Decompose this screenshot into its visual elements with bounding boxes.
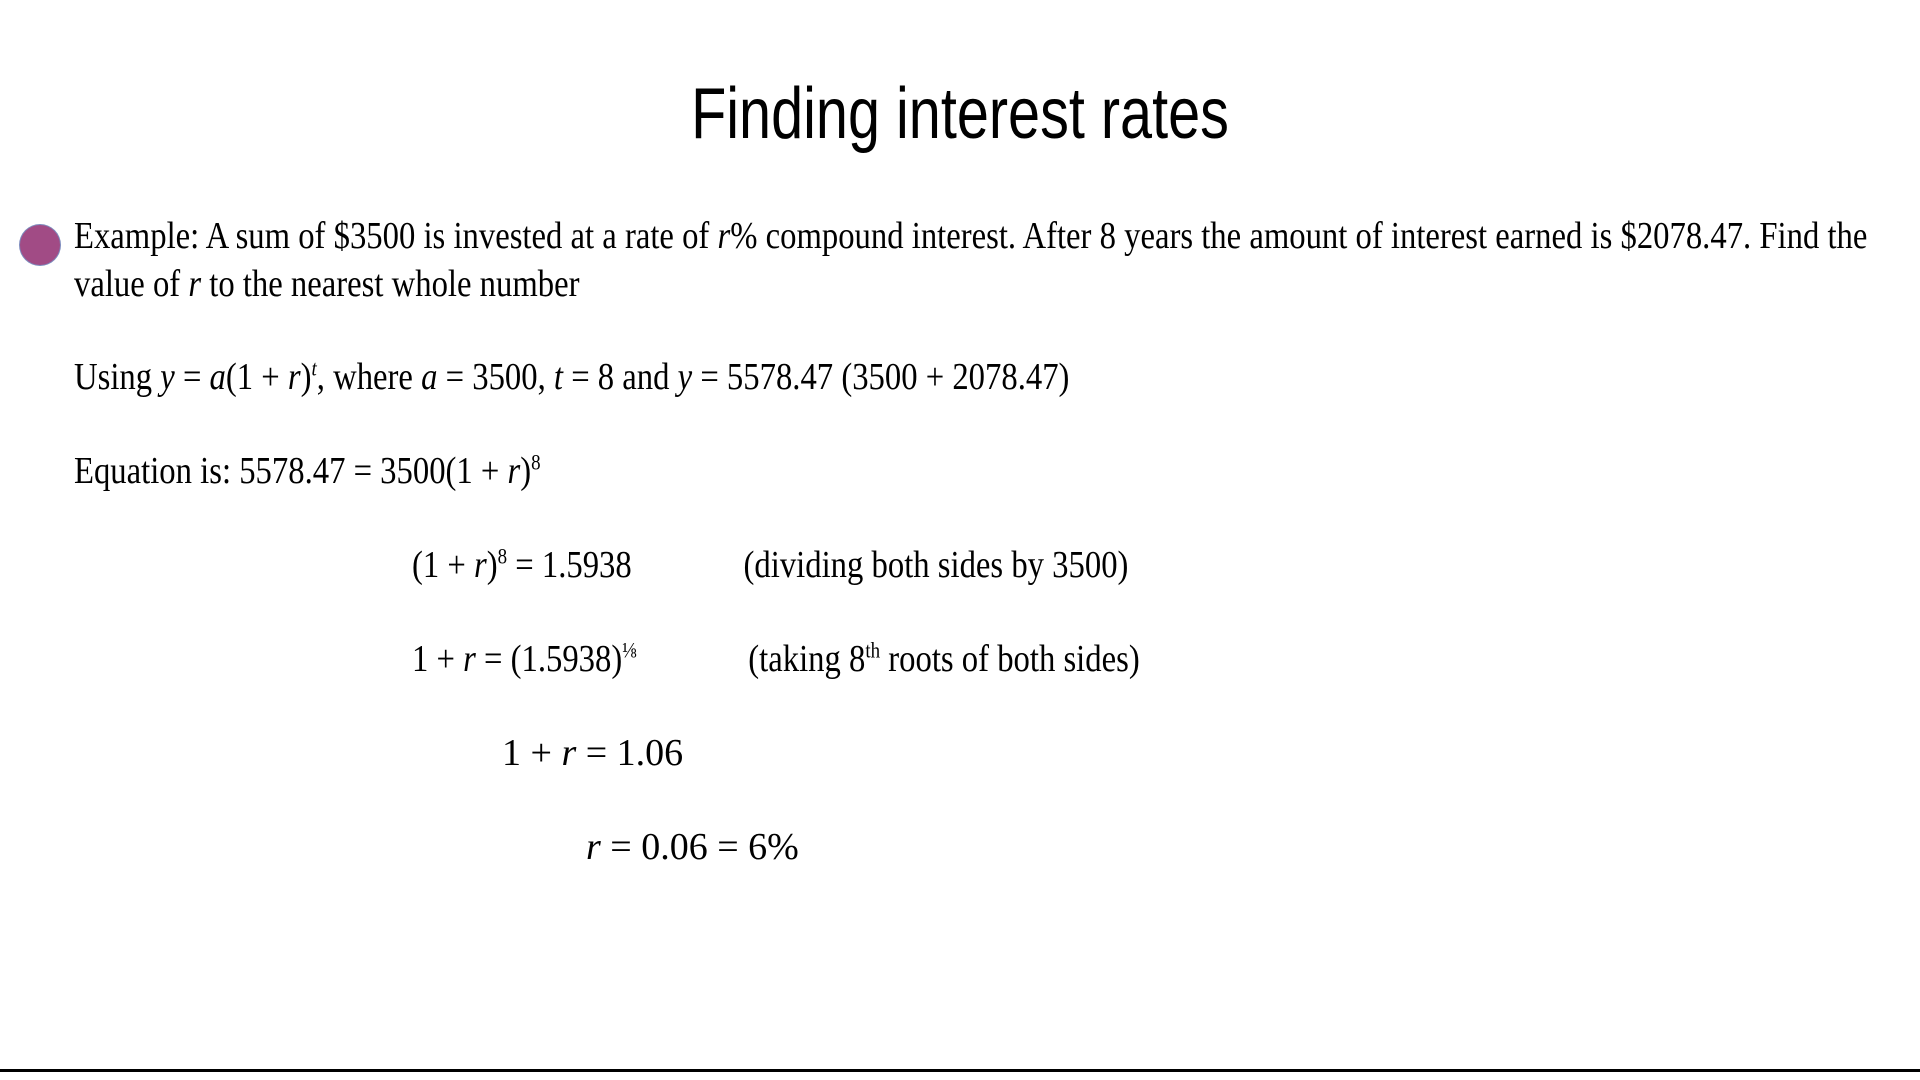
using-prefix: Using xyxy=(74,356,160,398)
using-var-y-2: y xyxy=(678,356,693,398)
step2-mid: = (1.5938) xyxy=(476,638,622,680)
equation-exponent-8: 8 xyxy=(531,449,540,474)
using-eq-2: = 3500, xyxy=(437,356,553,398)
using-eq-3: = 8 and xyxy=(563,356,678,398)
using-open-paren: (1 + xyxy=(226,356,288,398)
equation-prefix: Equation is: 5578.47 = 3500(1 + xyxy=(74,450,508,492)
step2-exponent-one-eighth: ⅛ xyxy=(622,637,636,662)
step4-rhs: = 0.06 = 6% xyxy=(601,826,799,868)
step2-note-post: roots of both sides) xyxy=(880,638,1140,680)
step1-lhs-open: (1 + xyxy=(412,544,474,586)
using-var-a-1: a xyxy=(210,356,226,398)
page-title: Finding interest rates xyxy=(192,78,1728,150)
using-var-a-2: a xyxy=(421,356,437,398)
bullet-paragraph: Example: A sum of $3500 is invested at a… xyxy=(16,212,1876,308)
step3-lhs: 1 + xyxy=(502,732,561,774)
step2-var-r: r xyxy=(463,638,476,680)
step-2-line: 1 + r = (1.5938)⅛(taking 8th roots of bo… xyxy=(412,636,1140,682)
using-formula-line: Using y = a(1 + r)t, where a = 3500, t =… xyxy=(74,354,1069,400)
bullet-dot-icon xyxy=(20,225,60,265)
step2-lhs: 1 + xyxy=(412,638,463,680)
step3-var-r: r xyxy=(561,732,576,774)
slide-body: Example: A sum of $3500 is invested at a… xyxy=(0,200,1920,1020)
using-var-y-1: y xyxy=(160,356,175,398)
using-eq-1: = xyxy=(175,356,210,398)
step-4-line: r = 0.06 = 6% xyxy=(586,824,799,870)
example-var-r-1: r xyxy=(717,215,730,257)
example-var-r-2: r xyxy=(188,263,201,305)
example-paragraph-text: Example: A sum of $3500 is invested at a… xyxy=(74,212,1897,308)
example-text-part1: Example: A sum of $3500 is invested at a… xyxy=(74,215,717,257)
equation-statement-line: Equation is: 5578.47 = 3500(1 + r)8 xyxy=(74,448,541,494)
step-1-line: (1 + r)8 = 1.5938(dividing both sides by… xyxy=(412,542,1128,588)
example-text-part3: to the nearest whole number xyxy=(201,263,579,305)
using-var-r-1: r xyxy=(288,356,301,398)
slide-canvas: Finding interest rates Example: A sum of… xyxy=(0,0,1920,1080)
using-where: , where xyxy=(317,356,421,398)
step1-var-r: r xyxy=(474,544,487,586)
using-var-t-2: t xyxy=(554,356,563,398)
bottom-divider xyxy=(0,1069,1920,1072)
step1-rhs: = 1.5938 xyxy=(507,544,632,586)
equation-close-paren: ) xyxy=(520,450,531,492)
equation-var-r: r xyxy=(508,450,521,492)
step2-note-pre: (taking 8 xyxy=(748,638,865,680)
step-3-line: 1 + r = 1.06 xyxy=(502,730,683,776)
step1-exponent-8: 8 xyxy=(498,543,507,568)
using-close-paren: ) xyxy=(301,356,312,398)
using-eq-4: = 5578.47 (3500 + 2078.47) xyxy=(692,356,1069,398)
step4-var-r: r xyxy=(586,826,601,868)
step3-rhs: = 1.06 xyxy=(576,732,683,774)
step2-note-ordinal-suffix: th xyxy=(865,637,880,662)
step1-note: (dividing both sides by 3500) xyxy=(744,544,1129,586)
step1-lhs-close: ) xyxy=(487,544,498,586)
